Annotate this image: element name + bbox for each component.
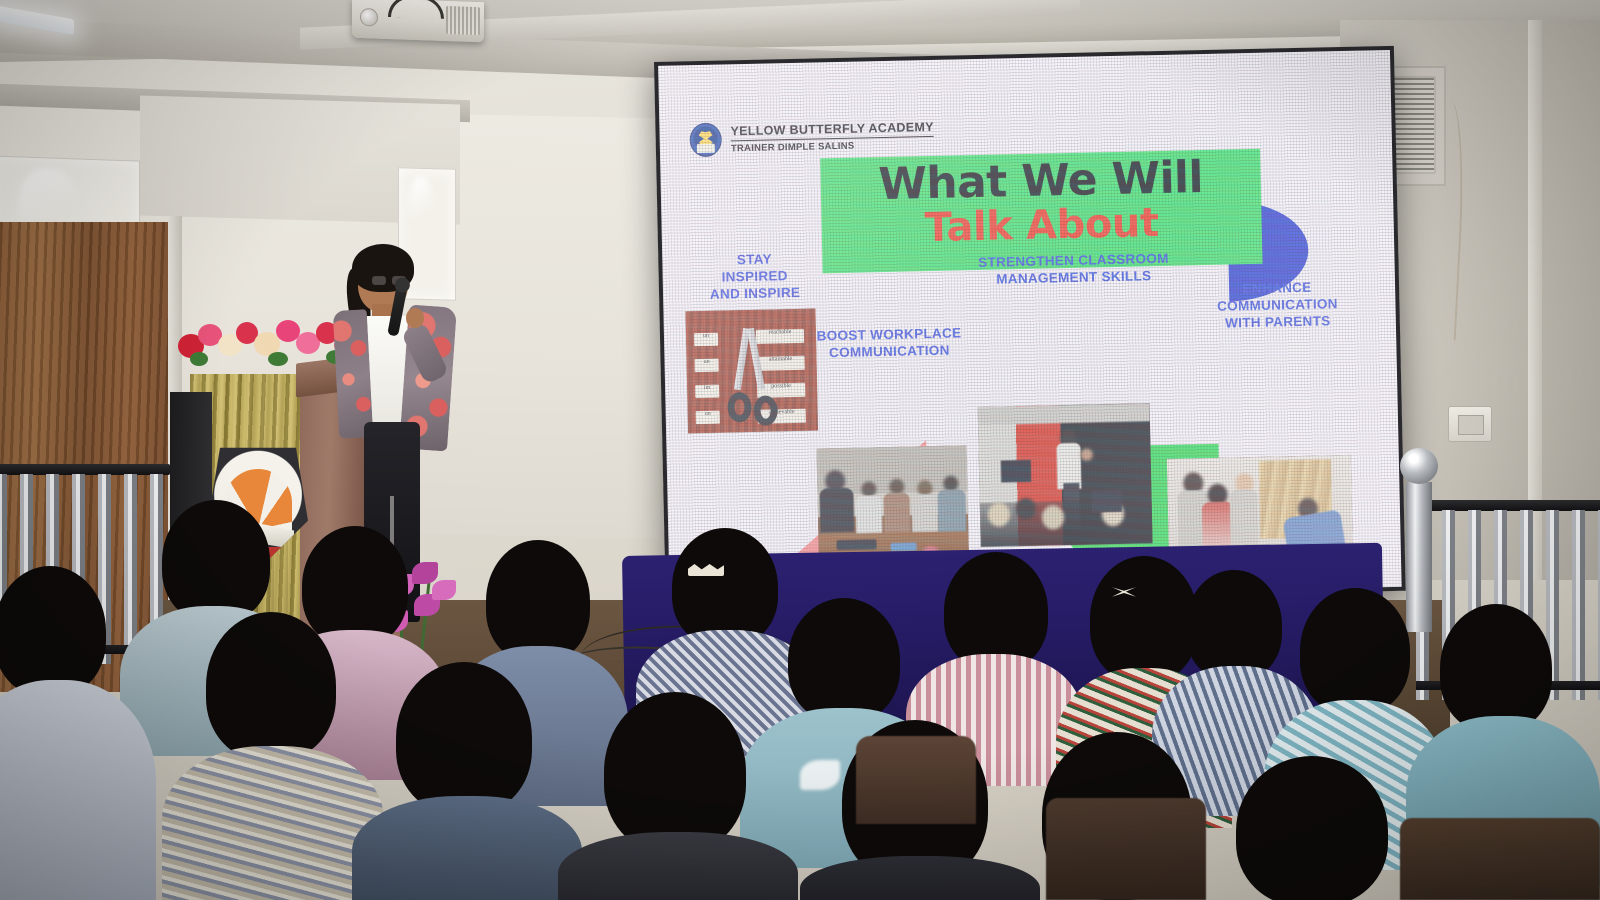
chair-back [856, 736, 976, 824]
chair-back [1400, 818, 1600, 900]
chair-back [1046, 798, 1206, 900]
audience [0, 0, 1600, 900]
seminar-hall-scene: YELLOW BUTTERFLY ACADEMY TRAINER DIMPLE … [0, 0, 1600, 900]
